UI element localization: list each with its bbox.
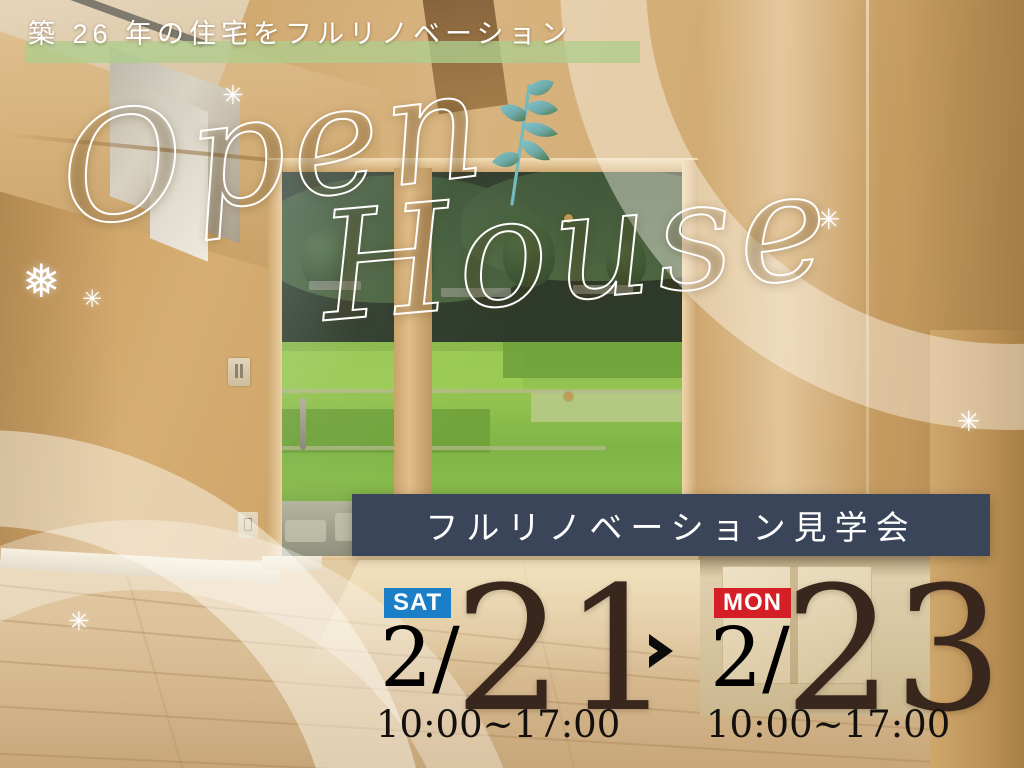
baseboard-return xyxy=(262,556,322,570)
sparkle-icon: ✳ xyxy=(817,206,840,234)
date-block-start: SAT 2/ 21 10:00~17:00 xyxy=(362,566,652,756)
sparkle-icon: ✳ xyxy=(957,408,980,436)
headline-text: 築 26 年の住宅をフルリノベーション xyxy=(28,12,728,52)
open-house-flyer: 築 26 年の住宅をフルリノベーション Open House ❅ ✳ ✳ ✳ ✳… xyxy=(0,0,1024,768)
sparkle-icon: ✳ xyxy=(222,82,244,108)
seminar-banner: フルリノベーション見学会 xyxy=(352,494,990,556)
sparkle-icon: ✳ xyxy=(68,608,90,634)
date-block-end: MON 2/ 23 10:00~17:00 xyxy=(692,566,982,756)
open-hours: 10:00~17:00 xyxy=(706,706,950,743)
arrow-right-icon xyxy=(645,628,687,674)
door-handle xyxy=(300,398,306,450)
window-jamb-left xyxy=(268,160,282,572)
wall-reveal-inner xyxy=(150,88,208,261)
month-slash: 2/ xyxy=(380,618,460,700)
month-slash: 2/ xyxy=(710,618,790,700)
sparkle-icon: ✳ xyxy=(82,288,102,312)
power-outlet xyxy=(238,512,258,538)
botanical-sprig-icon xyxy=(462,78,582,206)
seminar-banner-label: フルリノベーション見学会 xyxy=(425,501,916,549)
light-switch xyxy=(228,358,250,386)
open-hours: 10:00~17:00 xyxy=(376,706,620,743)
snowflake-icon: ❅ xyxy=(22,258,61,304)
